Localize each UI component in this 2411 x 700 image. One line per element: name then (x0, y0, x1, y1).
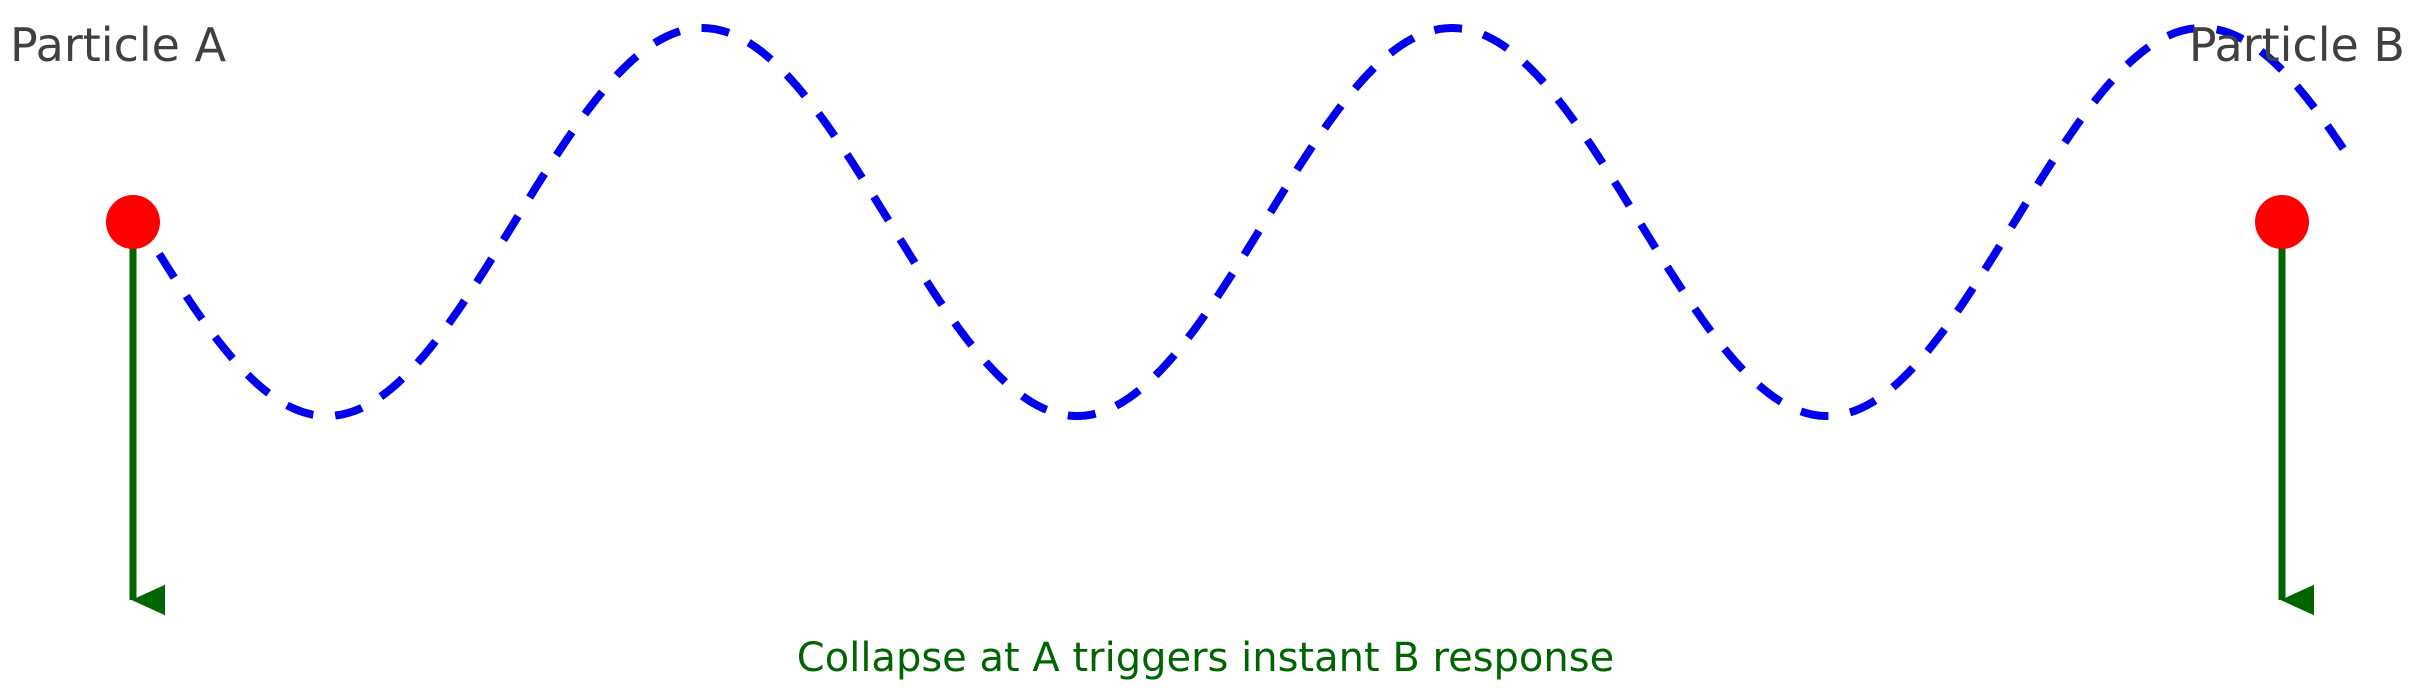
particle-a-marker (106, 195, 160, 249)
particle-b-marker (2255, 195, 2309, 249)
entanglement-figure: Particle A Particle B Collapse at A trig… (0, 0, 2411, 700)
particle-b-label: Particle B (2189, 22, 2405, 68)
wavefunction-curve (133, 28, 2345, 416)
figure-caption: Collapse at A triggers instant B respons… (0, 638, 2411, 678)
wave-plot-canvas (0, 0, 2411, 700)
particle-a-label: Particle A (10, 22, 226, 68)
